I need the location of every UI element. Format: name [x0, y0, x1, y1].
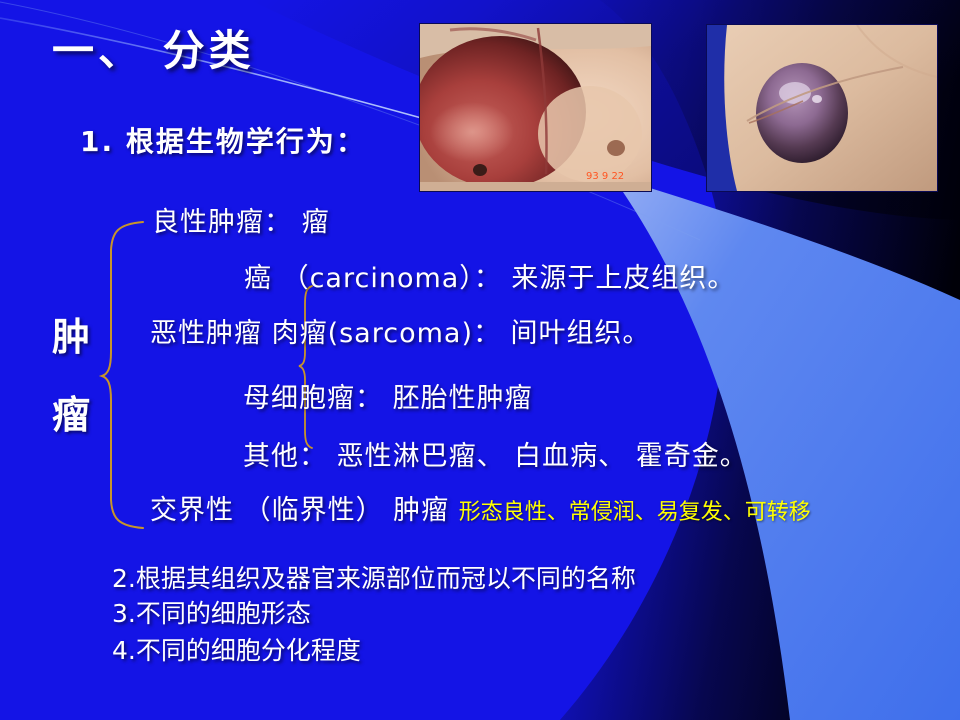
list-item-1: 1. 根据生物学行为：	[80, 128, 366, 156]
classification-carcinoma: 癌 （carcinoma）： 来源于上皮组织。	[244, 265, 735, 292]
classification-borderline-note: 形态良性、常侵润、易复发、可转移	[459, 500, 811, 525]
classification-blastoma: 母细胞瘤： 胚胎性肿瘤	[243, 385, 533, 412]
svg-text:93 9 22: 93 9 22	[586, 171, 624, 182]
slide-canvas: 93 9 22	[0, 0, 960, 720]
vertical-label-char-2: 瘤	[52, 396, 90, 434]
classification-other: 其他： 恶性淋巴瘤、 白血病、 霍奇金。	[243, 443, 748, 470]
classification-benign: 良性肿瘤： 瘤	[152, 209, 330, 236]
classification-malignant: 恶性肿瘤 肉瘤(sarcoma)： 间叶组织。	[150, 320, 651, 347]
footer-item-3: 3.不同的细胞形态	[112, 601, 311, 626]
footer-item-4: 4.不同的细胞分化程度	[112, 638, 361, 663]
classification-borderline-label: 交界性 （临界性） 肿瘤	[150, 495, 449, 526]
vertical-label-char-1: 肿	[52, 318, 90, 356]
page-title: 一、 分类	[52, 30, 255, 72]
clinical-photo-breast-tumor-frontal: 93 9 22	[419, 23, 652, 192]
classification-borderline: 交界性 （临界性） 肿瘤 形态良性、常侵润、易复发、可转移	[150, 497, 811, 524]
footer-item-2: 2.根据其组织及器官来源部位而冠以不同的名称	[112, 566, 636, 591]
clinical-photo-chest-wall-nodule-lateral	[706, 24, 938, 192]
